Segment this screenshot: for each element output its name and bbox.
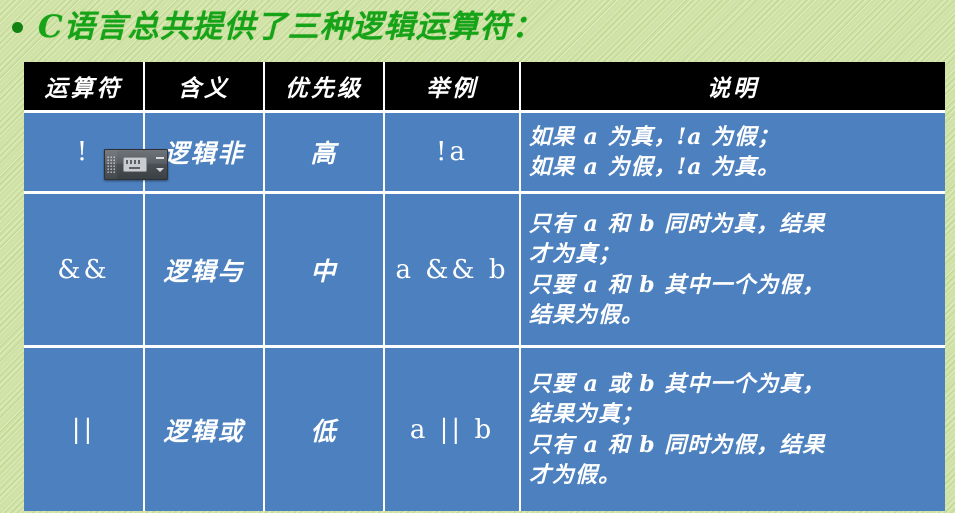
ime-bar-buttons[interactable] [152,150,167,179]
cell-description-and: 只有 a 和 b 同时为真，结果 才为真； 只要 a 和 b 其中一个为假， 结… [520,193,945,347]
description-line: 才为真； [529,239,937,269]
description-line: 如果 a 为真，!a 为假； [529,122,937,152]
cell-operator-or: || [24,347,144,512]
cell-example-and: a && b [384,193,520,347]
column-header-meaning: 含义 [144,62,264,112]
grip-dots [107,156,115,173]
description-line: 只有 a 和 b 同时为真，结果 [529,209,937,239]
minimize-icon[interactable] [156,157,164,159]
column-header-example: 举例 [384,62,520,112]
page-title: C语言总共提供了三种逻辑运算符： [38,12,544,43]
description-line: 才为假。 [529,460,937,490]
table-row: || 逻辑或 低 a || b 只要 a 或 b 其中一个为真， 结果为真； 只… [24,347,945,512]
slide-canvas: C语言总共提供了三种逻辑运算符： 运算符 含义 优先级 举例 说明 ! 逻辑非 … [0,0,955,513]
cell-meaning-and: 逻辑与 [144,193,264,347]
slide-title-line: C语言总共提供了三种逻辑运算符： [12,2,544,52]
column-header-operator: 运算符 [24,62,144,112]
table-row: && 逻辑与 中 a && b 只有 a 和 b 同时为真，结果 才为真； 只要… [24,193,945,347]
ime-language-bar[interactable] [104,149,168,180]
cell-precedence-and: 中 [264,193,384,347]
description-line: 如果 a 为假，!a 为真。 [529,152,937,182]
cell-precedence-not: 高 [264,112,384,193]
description-line: 只要 a 和 b 其中一个为假， [529,270,937,300]
cell-precedence-or: 低 [264,347,384,512]
bullet-dot-icon [12,22,23,33]
chevron-down-icon[interactable] [156,168,164,172]
logical-operators-table: 运算符 含义 优先级 举例 说明 ! 逻辑非 高 !a 如果 a 为真，!a 为… [24,62,945,511]
cell-operator-and: && [24,193,144,347]
column-header-description: 说明 [520,62,945,112]
cell-example-not: !a [384,112,520,193]
table-header-row: 运算符 含义 优先级 举例 说明 [24,62,945,112]
keyboard-glyph [123,157,147,172]
description-line: 只要 a 或 b 其中一个为真， [529,369,937,399]
cell-description-not: 如果 a 为真，!a 为假； 如果 a 为假，!a 为真。 [520,112,945,193]
cell-example-or: a || b [384,347,520,512]
drag-grip-dots-icon[interactable] [105,150,117,179]
description-line: 只有 a 和 b 同时为假，结果 [529,430,937,460]
cell-description-or: 只要 a 或 b 其中一个为真， 结果为真； 只有 a 和 b 同时为假，结果 … [520,347,945,512]
description-line: 结果为假。 [529,300,937,330]
description-line: 结果为真； [529,399,937,429]
cell-meaning-or: 逻辑或 [144,347,264,512]
column-header-precedence: 优先级 [264,62,384,112]
keyboard-icon[interactable] [117,150,152,179]
